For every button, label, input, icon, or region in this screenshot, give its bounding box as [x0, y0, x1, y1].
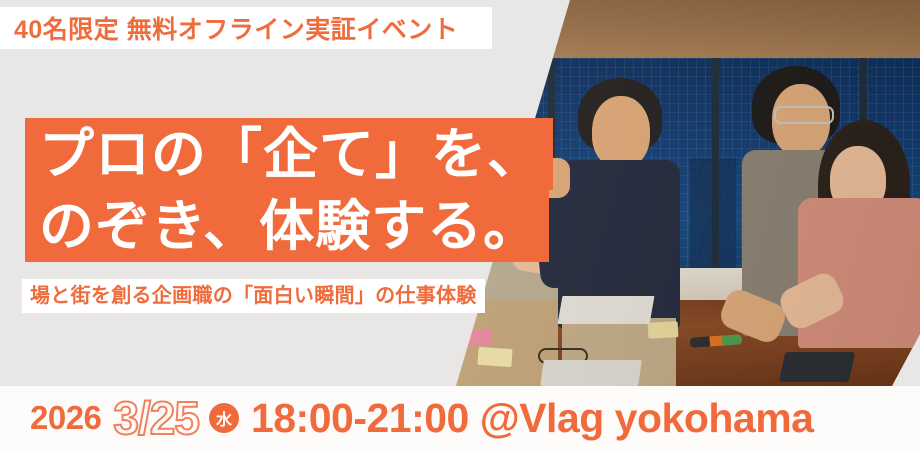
event-date-line: 2026 3/25 水 18:00-21:00 @Vlag yokohama: [30, 391, 813, 445]
capacity-ribbon-label: 40名限定 無料オフライン実証イベント: [14, 10, 458, 46]
sticky-note-yellow: [648, 321, 679, 339]
eyeglasses-icon: [774, 106, 834, 124]
window-mullion: [712, 58, 719, 273]
event-poster: 40名限定 無料オフライン実証イベント プロの「企て」を、 のぞき、体験する。 …: [0, 0, 920, 450]
headline: プロの「企て」を、 のぞき、体験する。: [25, 118, 553, 262]
event-details-bar: 2026 3/25 水 18:00-21:00 @Vlag yokohama: [0, 386, 920, 450]
subtitle: 場と街を創る企画職の「面白い瞬間」の仕事体験: [22, 279, 485, 313]
event-day-of-week-badge: 水: [209, 403, 239, 433]
headline-line-2: のぞき、体験する。: [25, 190, 549, 262]
headline-line-1: プロの「企て」を、: [25, 118, 553, 190]
tablet-device: [779, 352, 855, 382]
capacity-ribbon: 40名限定 無料オフライン実証イベント: [0, 7, 492, 49]
face: [592, 96, 650, 168]
event-time-and-venue: 18:00-21:00 @Vlag yokohama: [251, 395, 814, 442]
event-month-day: 3/25: [113, 391, 199, 445]
torso: [798, 198, 920, 348]
sticky-note-yellow: [477, 347, 512, 367]
event-year: 2026: [30, 399, 101, 437]
clipboard: [540, 360, 642, 386]
open-notebook: [558, 296, 655, 324]
